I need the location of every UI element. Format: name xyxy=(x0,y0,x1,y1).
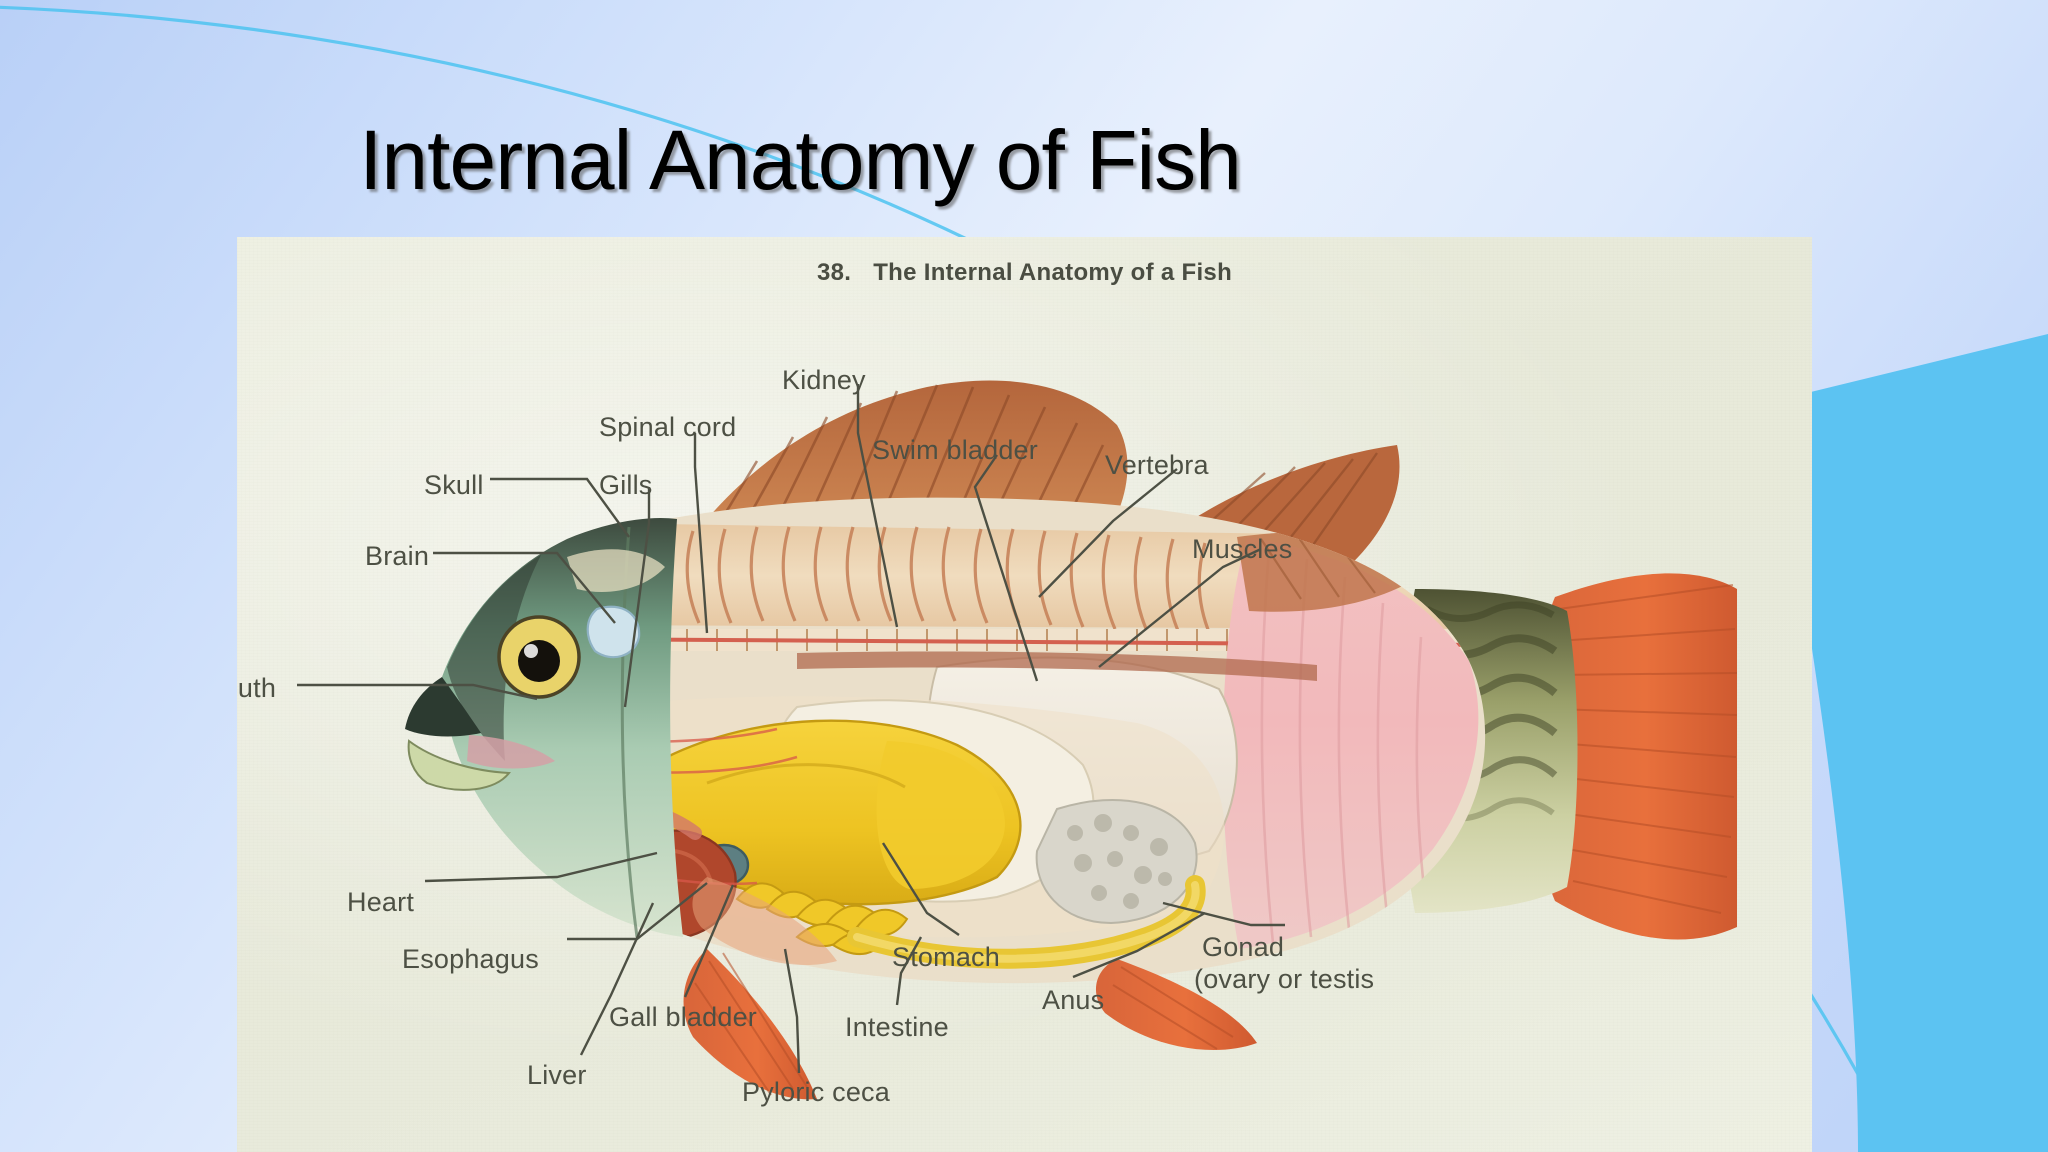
label-liver: Liver xyxy=(527,1060,587,1090)
label-gall-bladder: Gall bladder xyxy=(609,1002,757,1032)
fish-illustration xyxy=(237,237,1812,1152)
label-kidney: Kidney xyxy=(782,365,866,395)
fish-anatomy-diagram: 38.The Internal Anatomy of a Fish xyxy=(237,237,1812,1152)
label-stomach: Stomach xyxy=(892,942,1000,972)
page-title: Internal Anatomy of Fish xyxy=(0,118,1600,202)
label-gills: Gills xyxy=(599,470,653,500)
label-anus: Anus xyxy=(1042,985,1104,1015)
presentation-slide: Internal Anatomy of Fish 38.The Internal… xyxy=(0,0,2048,1152)
label-mouth: Mouth xyxy=(237,673,276,703)
label-spinal-cord: Spinal cord xyxy=(599,412,736,442)
eye xyxy=(499,617,579,697)
label-intestine: Intestine xyxy=(845,1012,949,1042)
label-esophagus: Esophagus xyxy=(402,944,539,974)
label-brain: Brain xyxy=(365,541,429,571)
label-pyloric-ceca: Pyloric ceca xyxy=(742,1077,890,1107)
label-gonad-detail: (ovary or testis xyxy=(1194,964,1374,994)
label-vertebra: Vertebra xyxy=(1105,450,1209,480)
label-muscles: Muscles xyxy=(1192,534,1292,564)
label-gonad: Gonad xyxy=(1202,932,1284,962)
label-skull: Skull xyxy=(424,470,484,500)
label-swim-bladder: Swim bladder xyxy=(872,435,1038,465)
label-heart: Heart xyxy=(347,887,414,917)
